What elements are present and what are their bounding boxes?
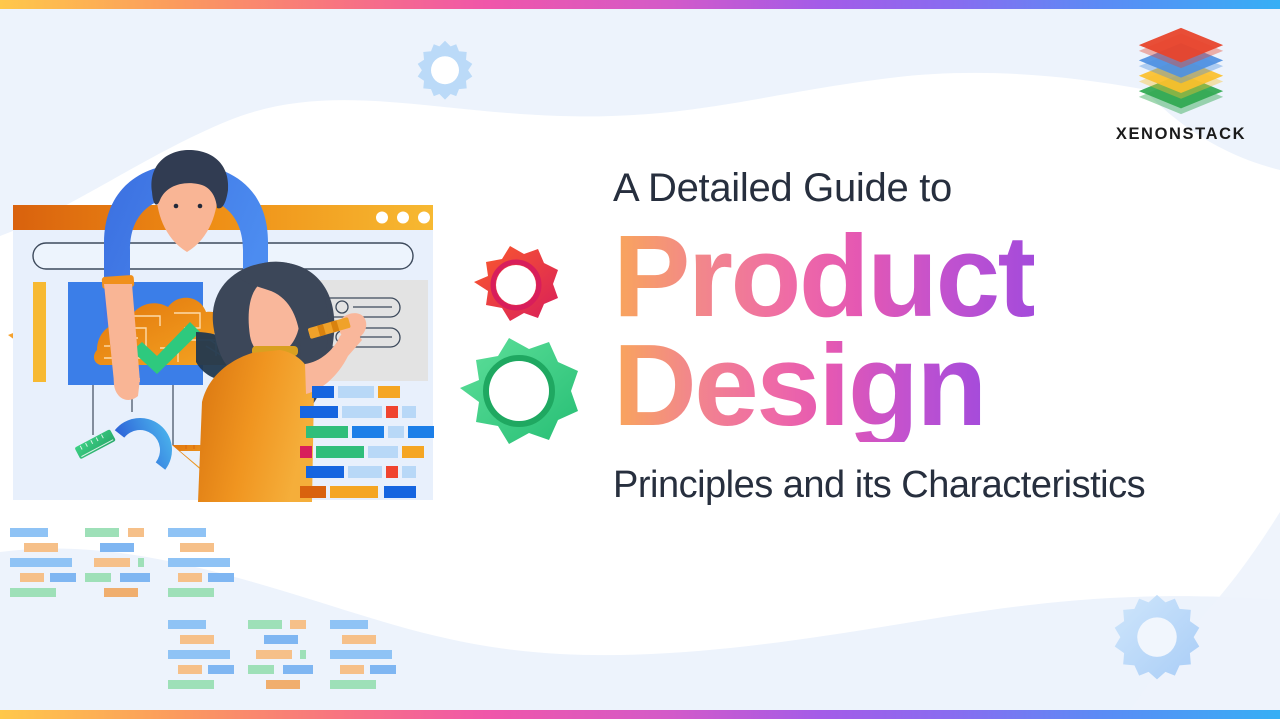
code-cluster [248, 620, 313, 689]
headline-line-2: Design [613, 328, 985, 443]
window-dot [418, 212, 430, 224]
eye [198, 204, 203, 209]
headline-subline: Principles and its Characteristics [613, 464, 1273, 508]
code-cluster [330, 620, 396, 689]
logo-wordmark: XENONSTACK [1116, 125, 1246, 144]
browser-titlebar [13, 205, 433, 230]
window-dot [397, 212, 409, 224]
gradient-strip-top [0, 0, 1280, 9]
window-dot [376, 212, 388, 224]
gear-red-right [474, 246, 558, 321]
poster-canvas: XENONSTACK [0, 0, 1280, 719]
brand-logo[interactable]: XENONSTACK [1106, 24, 1256, 144]
eye [174, 204, 179, 209]
headline-eyebrow: A Detailed Guide to [613, 166, 1273, 211]
product-design-illustration [0, 150, 590, 550]
gear-green-right [460, 338, 578, 444]
code-cluster [168, 620, 234, 689]
accent-tab [33, 282, 46, 382]
gear-decor-bottom-right [1110, 592, 1204, 686]
stacked-layers-logo-icon [1133, 24, 1229, 116]
headline-block: A Detailed Guide to Product Design Princ… [613, 166, 1273, 508]
headline-line-1: Product [613, 219, 1034, 334]
gear-decor-top [410, 38, 480, 108]
gradient-strip-bottom [0, 710, 1280, 719]
